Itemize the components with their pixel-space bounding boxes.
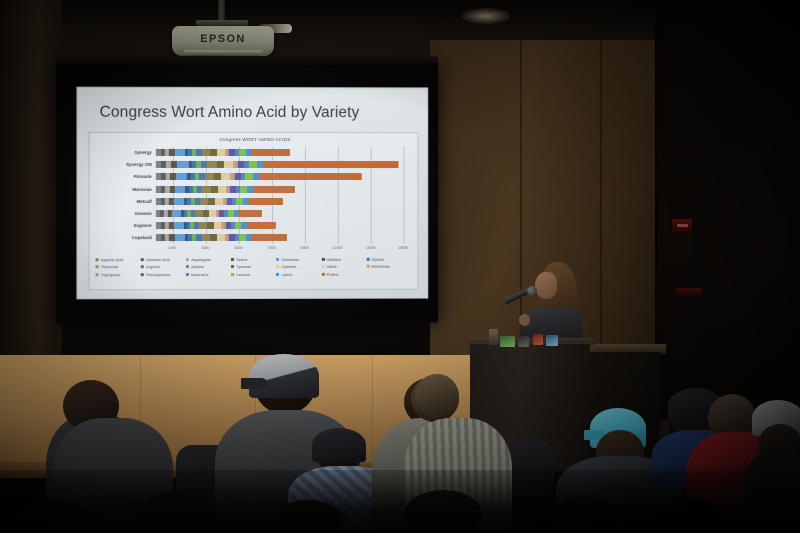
chart-category-label: Copeland	[132, 234, 152, 241]
legend-label: Leucine	[236, 272, 250, 277]
water-bottle	[489, 329, 498, 345]
chart-bar: Synergy OM	[156, 161, 398, 168]
chart-legend-item: Serine	[231, 257, 276, 262]
chart-bar-segment	[177, 161, 189, 168]
legend-swatch-icon	[366, 265, 369, 268]
chart-legend-item: Glycine	[366, 257, 411, 262]
chart-category-label: Synergy	[134, 149, 151, 156]
chart-legend-item: Lysine	[276, 272, 321, 277]
chart-bar-segment	[200, 198, 208, 205]
legend-label: Phenylalanine	[146, 272, 171, 277]
chart-title: Congress WORT AMINO ACIDS	[89, 137, 419, 142]
projection-screen: Congress Wort Amino Acid by Variety Cong…	[56, 62, 438, 323]
foreground-shadow	[0, 470, 800, 533]
legend-swatch-icon	[141, 258, 144, 261]
ceiling-light	[462, 8, 510, 24]
legend-swatch-icon	[141, 273, 144, 276]
legend-label: Threonine	[101, 265, 119, 270]
chart-legend-item: Cysteine	[276, 264, 321, 269]
projector-brand-label: EPSON	[172, 33, 274, 45]
chart-bar-segment	[210, 234, 217, 241]
chart-bar-segment	[210, 149, 217, 156]
chart-x-axis: 10003000500070009000110001300015000	[156, 246, 412, 254]
chart-bar: Pinnacle	[156, 173, 362, 180]
chart-bar-segment	[205, 173, 214, 180]
legend-swatch-icon	[321, 265, 324, 268]
chart-bar-segment	[239, 149, 246, 156]
legend-label: Tyrosine	[236, 264, 251, 269]
slide-title: Congress Wort Amino Acid by Variety	[100, 104, 360, 122]
chart-bar-segment	[239, 234, 246, 241]
chart-bar-segment	[202, 149, 211, 156]
wall-sign	[676, 288, 702, 296]
legend-swatch-icon	[276, 258, 279, 261]
left-wall	[0, 0, 62, 400]
chart-bar-segment	[240, 186, 247, 193]
legend-label: Valine	[326, 264, 336, 269]
chart-x-tick-label: 5000	[235, 246, 243, 250]
legend-label: Glutamine	[281, 257, 299, 262]
chart-bar-segment	[199, 222, 207, 229]
chart-bar-segment	[225, 161, 233, 168]
legend-swatch-icon	[186, 273, 189, 276]
chart-bar-segment	[236, 198, 243, 205]
chart-legend-item: Glutamic Acid	[141, 257, 186, 262]
presenter-face	[535, 272, 557, 299]
presenter-hand	[519, 314, 530, 326]
chart-legend: Aspartic AcidGlutamic AcidAsparagineSeri…	[96, 257, 412, 280]
legend-label: Cysteine	[281, 264, 296, 269]
chart-bar-segment	[223, 173, 231, 180]
chart-x-tick-label: 11000	[333, 246, 343, 250]
chart: Congress WORT AMINO ACIDS SynergySynergy…	[88, 132, 418, 291]
chart-legend-item: Threonine	[96, 265, 141, 270]
legend-label: Glutamic Acid	[146, 257, 170, 262]
chart-bar-segment	[172, 210, 181, 217]
legend-swatch-icon	[231, 273, 234, 276]
chart-legend-item: Isoleucine	[186, 272, 231, 277]
legend-label: Glycine	[371, 257, 384, 262]
chart-category-label: Explorer	[134, 222, 152, 229]
cap-brim	[241, 378, 267, 389]
chart-bar-segment	[259, 173, 362, 180]
legend-swatch-icon	[231, 265, 234, 268]
chart-bar-segment	[216, 198, 223, 205]
chart-bar-segment	[214, 173, 221, 180]
chart-category-label: Moravian	[132, 186, 151, 193]
chart-x-tick-label: 15000	[398, 246, 408, 250]
legend-swatch-icon	[96, 266, 99, 269]
baseball-cap	[249, 354, 319, 398]
chart-bar-segment	[202, 234, 211, 241]
chart-bar-segment	[174, 198, 184, 205]
chart-bar-segment	[175, 149, 185, 156]
chart-x-tick-label: 7000	[268, 246, 276, 250]
legend-swatch-icon	[276, 273, 279, 276]
chart-bar-segment	[249, 161, 257, 168]
legend-swatch-icon	[276, 265, 279, 268]
podium-sticker	[546, 335, 558, 346]
chart-bar-segment	[245, 173, 252, 180]
chart-legend-item: Phenylalanine	[141, 272, 186, 277]
legend-label: Histidine	[326, 257, 341, 262]
chart-bar-segment	[235, 222, 242, 229]
chart-legend-item: Histidine	[321, 257, 366, 262]
chart-x-tick-label: 3000	[202, 246, 210, 250]
wall-seam	[600, 40, 602, 370]
chart-x-tick-label: 13000	[365, 246, 375, 250]
chart-legend-item: Aspartic Acid	[96, 257, 141, 262]
chart-x-tick-label: 1000	[168, 246, 176, 250]
chart-gridline	[403, 147, 404, 244]
podium-sticker	[500, 336, 515, 347]
chart-bar-segment	[211, 186, 218, 193]
chart-x-tick-label: 9000	[301, 246, 309, 250]
chart-bar-segment	[174, 222, 184, 229]
chart-bar-segment	[175, 186, 185, 193]
chart-bar-segment	[215, 222, 222, 229]
podium-sticker	[533, 334, 543, 345]
legend-swatch-icon	[321, 258, 324, 261]
far-right-dark-wall	[655, 0, 800, 420]
podium-sticker	[518, 336, 529, 347]
legend-label: Tryptophan	[101, 272, 121, 277]
chart-legend-item: Arginine	[141, 264, 186, 269]
chart-bar-segment	[238, 210, 261, 217]
chart-legend-item: Alanine	[186, 264, 231, 269]
legend-label: Lysine	[281, 272, 292, 277]
chart-bar-segment	[219, 186, 226, 193]
legend-label: Arginine	[146, 265, 160, 270]
chart-bar-segment	[195, 210, 202, 217]
legend-swatch-icon	[231, 258, 234, 261]
chart-category-label: Synergy OM	[126, 161, 152, 168]
legend-swatch-icon	[141, 266, 144, 269]
chart-bar-segment	[176, 173, 187, 180]
chart-category-label: Pinnacle	[134, 173, 152, 180]
legend-label: Asparagine	[191, 257, 211, 262]
chart-bar: Moravian	[156, 186, 295, 193]
chart-bar-segment	[253, 186, 295, 193]
legend-label: Serine	[236, 257, 247, 262]
chart-legend-item: Tyrosine	[231, 264, 276, 269]
legend-label: Isoleucine	[191, 272, 209, 277]
chart-bar-segment	[251, 234, 287, 241]
screen-roller-bar	[56, 55, 438, 65]
chart-plot-area: SynergySynergy OMPinnacleMoravianMetcalf…	[156, 147, 412, 244]
chart-bar: Synergy	[156, 149, 291, 156]
chart-bar: Metcalf	[156, 198, 283, 205]
chart-bar-segment	[175, 234, 185, 241]
audience-head	[415, 374, 459, 418]
legend-swatch-icon	[96, 273, 99, 276]
chart-category-label: Genesis	[135, 210, 152, 217]
chart-legend-item: Valine	[321, 264, 366, 269]
legend-swatch-icon	[321, 273, 324, 276]
conference-room-photo: EPSON Congress Wort Amino Acid by Variet…	[0, 0, 800, 533]
chart-category-label: Metcalf	[137, 198, 152, 205]
chart-legend-item: Proline	[321, 272, 366, 277]
chart-legend-item: Leucine	[231, 272, 276, 277]
chart-bar: Explorer	[156, 222, 277, 229]
presentation-slide: Congress Wort Amino Acid by Variety Cong…	[76, 87, 428, 300]
chart-bar-segment	[218, 234, 225, 241]
legend-swatch-icon	[96, 258, 99, 261]
chart-bar: Genesis	[156, 210, 262, 217]
chart-bar-segment	[217, 161, 224, 168]
legend-swatch-icon	[186, 265, 189, 268]
chart-bar-segment	[251, 149, 290, 156]
chart-legend-item: Glutamine	[276, 257, 321, 262]
chart-bar-segment	[207, 161, 217, 168]
legend-swatch-icon	[186, 258, 189, 261]
chart-bar-segment	[202, 186, 211, 193]
legend-swatch-icon	[366, 258, 369, 261]
legend-label: Proline	[326, 272, 338, 277]
exit-indicator-icon	[672, 219, 692, 233]
legend-label: Aspartic Acid	[101, 257, 124, 262]
chart-bar-segment	[263, 161, 398, 168]
chart-legend-item: Asparagine	[186, 257, 231, 262]
chart-bar-segment	[247, 222, 277, 229]
chart-bar-segment	[248, 198, 283, 205]
chart-bar: Copeland	[156, 234, 287, 241]
chart-legend-item: Methionine	[366, 264, 411, 269]
microphone-head-icon	[527, 286, 537, 296]
legend-label: Alanine	[191, 264, 204, 269]
chart-legend-item: Tryptophan	[96, 272, 141, 277]
chart-bar-segment	[218, 149, 225, 156]
legend-label: Methionine	[371, 264, 390, 269]
baseball-cap	[312, 428, 366, 462]
